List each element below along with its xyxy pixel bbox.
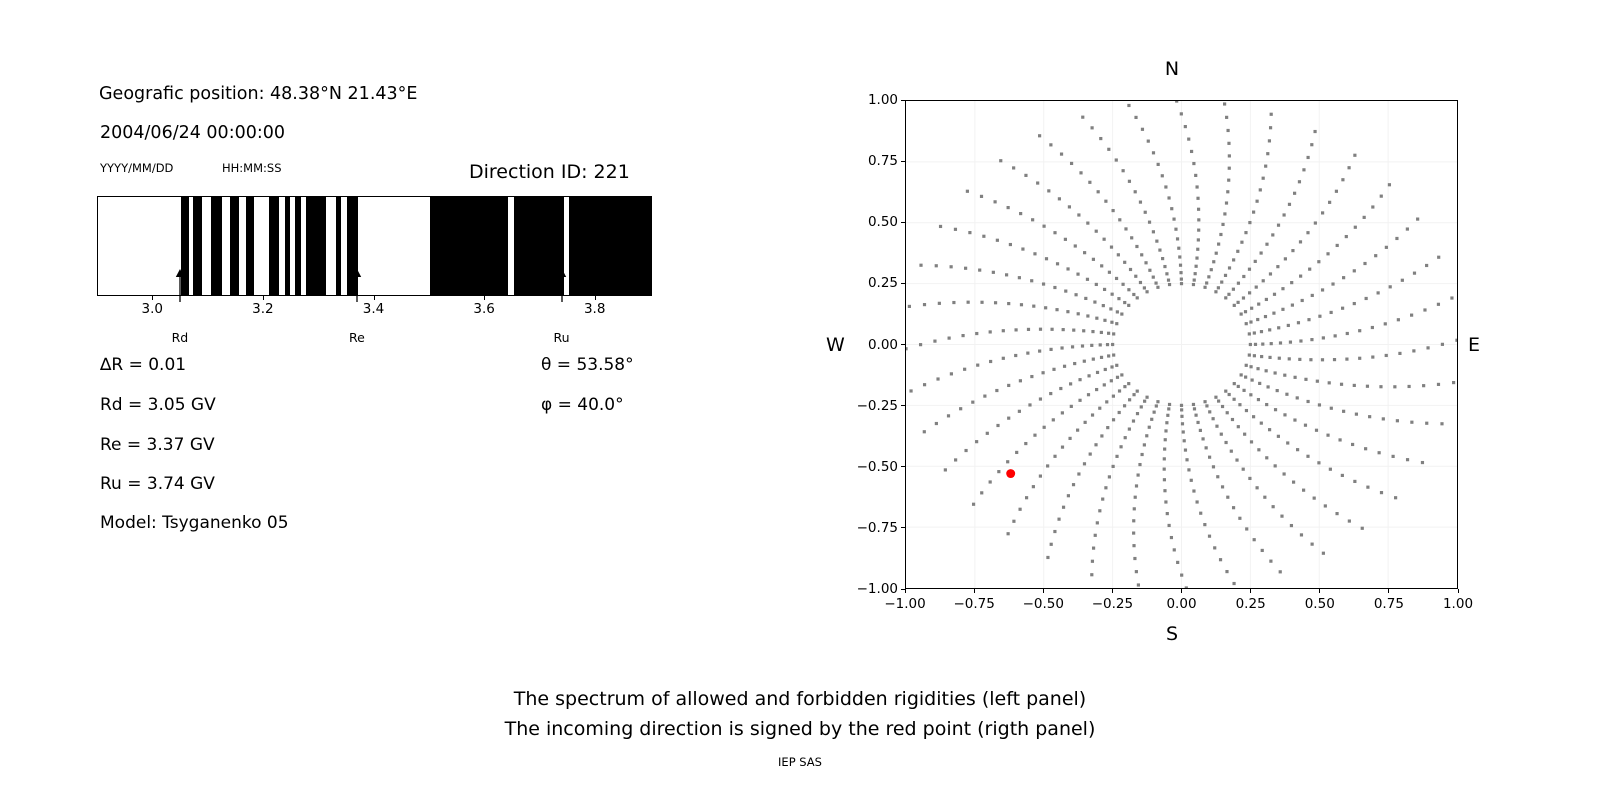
direction-point <box>944 468 947 471</box>
direction-point <box>1353 480 1356 483</box>
direction-point <box>1134 116 1137 119</box>
geographic-position-label: Geografic position: 48.38°N 21.43°E <box>99 84 417 104</box>
direction-point <box>1183 439 1186 442</box>
direction-point <box>1452 381 1455 384</box>
direction-point <box>1228 266 1231 269</box>
x-tick-dash <box>905 589 906 593</box>
direction-point <box>1061 411 1064 414</box>
direction-point <box>1026 352 1029 355</box>
selected-direction-point <box>1006 469 1015 478</box>
direction-point <box>1300 533 1303 536</box>
direction-point <box>1133 507 1136 510</box>
direction-point <box>1205 404 1208 407</box>
direction-point <box>1152 276 1155 279</box>
direction-point <box>1248 477 1251 480</box>
direction-point <box>1187 138 1190 141</box>
direction-point <box>1077 312 1080 315</box>
x-tick-label: 3.6 <box>473 301 494 317</box>
param-model: Model: Tsyganenko 05 <box>100 513 289 533</box>
direction-point <box>1136 412 1139 415</box>
direction-point <box>968 231 971 234</box>
direction-point <box>1155 240 1158 243</box>
direction-point <box>1111 293 1114 296</box>
direction-point <box>1104 368 1107 371</box>
direction-point <box>1155 404 1158 407</box>
direction-point <box>1226 496 1229 499</box>
direction-point <box>1232 506 1235 509</box>
direction-point <box>1353 302 1356 305</box>
direction-point <box>1106 343 1109 346</box>
direction-point <box>1180 404 1183 407</box>
direction-point <box>1158 248 1161 251</box>
direction-point <box>1223 212 1226 215</box>
direction-point <box>1224 274 1227 277</box>
direction-point <box>1192 283 1195 286</box>
direction-point <box>1175 101 1178 103</box>
direction-point <box>1094 534 1097 537</box>
direction-point <box>1261 549 1264 552</box>
direction-point <box>1109 307 1112 310</box>
direction-point <box>1128 427 1131 430</box>
direction-point <box>1084 297 1087 300</box>
direction-point <box>1340 383 1343 386</box>
direction-point <box>1139 201 1142 204</box>
direction-point <box>1274 371 1277 374</box>
x-tick-label: 0.25 <box>1236 596 1266 612</box>
direction-point <box>1228 167 1231 170</box>
direction-point <box>1101 498 1104 501</box>
direction-point <box>1366 486 1369 489</box>
x-tick-label: 0.50 <box>1305 596 1335 612</box>
direction-point <box>1324 504 1327 507</box>
direction-point <box>1033 252 1036 255</box>
direction-point <box>1276 389 1279 392</box>
direction-point <box>1268 356 1271 359</box>
direction-point <box>1134 275 1137 278</box>
direction-point <box>1262 177 1265 180</box>
direction-point <box>1067 494 1070 497</box>
direction-point <box>971 401 974 404</box>
direction-point <box>1437 303 1440 306</box>
direction-point <box>1310 338 1313 341</box>
direction-point <box>1265 369 1268 372</box>
direction-point <box>1112 209 1115 212</box>
direction-point <box>1068 437 1071 440</box>
direction-point <box>1140 453 1143 456</box>
x-tick-label: 3.4 <box>363 301 384 317</box>
direction-point <box>1087 393 1090 396</box>
direction-point <box>1093 300 1096 303</box>
direction-point <box>1240 241 1243 244</box>
direction-point <box>1066 310 1069 313</box>
x-tick-dash <box>1388 589 1389 593</box>
direction-point <box>1244 310 1247 313</box>
direction-point <box>1127 288 1130 291</box>
direction-point <box>1252 415 1255 418</box>
direction-point <box>1254 343 1257 346</box>
direction-point <box>1157 163 1160 166</box>
direction-point <box>1288 203 1291 206</box>
direction-point <box>1291 249 1294 252</box>
direction-point <box>1238 517 1241 520</box>
direction-point <box>1389 285 1392 288</box>
direction-point <box>1215 252 1218 255</box>
direction-point <box>1225 201 1228 204</box>
direction-point <box>1083 462 1086 465</box>
direction-point <box>1103 238 1106 241</box>
x-tick-dash <box>1043 589 1044 593</box>
direction-point <box>967 301 970 304</box>
x-tick-dash <box>1319 589 1320 593</box>
direction-point <box>1021 247 1024 250</box>
direction-point <box>1263 496 1266 499</box>
direction-point <box>1232 258 1235 261</box>
direction-point <box>954 458 957 461</box>
direction-point <box>1161 257 1164 260</box>
direction-point <box>1269 126 1272 129</box>
direction-point <box>1049 392 1052 395</box>
direction-point <box>1232 582 1235 585</box>
direction-point <box>1302 489 1305 492</box>
direction-point <box>1110 379 1113 382</box>
direction-point <box>980 301 983 304</box>
direction-map-panel: N S W E −1.00−0.75−0.50−0.250.000.250.50… <box>820 40 1520 660</box>
direction-point <box>1032 305 1035 308</box>
direction-point <box>1127 104 1130 107</box>
direction-point <box>1050 543 1053 546</box>
direction-point <box>1394 496 1397 499</box>
direction-point <box>966 190 969 193</box>
compass-south-label: S <box>1166 623 1178 645</box>
direction-point <box>1221 223 1224 226</box>
y-tick-dash <box>901 527 905 528</box>
direction-point <box>1224 390 1227 393</box>
direction-point <box>1100 331 1103 334</box>
direction-point <box>1118 389 1121 392</box>
direction-point <box>1064 289 1067 292</box>
x-tick-dash <box>974 589 975 593</box>
direction-point <box>1274 408 1277 411</box>
direction-point <box>1164 500 1167 503</box>
direction-point <box>1099 343 1102 346</box>
direction-point <box>1176 237 1179 240</box>
rigidity-marker-arrow <box>173 268 187 302</box>
direction-point <box>1317 461 1320 464</box>
direction-point <box>1351 443 1354 446</box>
direction-point <box>1306 455 1309 458</box>
direction-point <box>1078 399 1081 402</box>
direction-point <box>1120 312 1123 315</box>
direction-point <box>1020 303 1023 306</box>
direction-point <box>1317 260 1320 263</box>
direction-point <box>1248 353 1251 356</box>
direction-point <box>1050 328 1053 331</box>
direction-point <box>994 301 997 304</box>
x-tick-mark <box>374 296 375 300</box>
direction-point <box>983 395 986 398</box>
direction-point <box>1243 433 1246 436</box>
x-tick-label: −0.25 <box>1092 596 1133 612</box>
direction-point <box>1306 231 1309 234</box>
direction-point <box>1163 468 1166 471</box>
direction-point <box>1219 233 1222 236</box>
direction-point <box>1215 425 1218 428</box>
param-re: Re = 3.37 GV <box>100 435 215 455</box>
direction-point <box>1124 436 1127 439</box>
direction-point <box>1271 233 1274 236</box>
direction-point <box>1105 400 1108 403</box>
direction-point <box>1336 244 1339 247</box>
direction-point <box>1266 152 1269 155</box>
direction-point <box>1047 189 1050 192</box>
direction-point <box>1053 286 1056 289</box>
direction-point <box>1032 485 1035 488</box>
x-tick-dash <box>1458 589 1459 593</box>
direction-point <box>1112 395 1115 398</box>
direction-point <box>1197 208 1200 211</box>
direction-point <box>1182 430 1185 433</box>
direction-point <box>1248 221 1251 224</box>
direction-point <box>1240 373 1243 376</box>
direction-point <box>1156 400 1159 403</box>
direction-point <box>1096 521 1099 524</box>
direction-point <box>909 389 912 392</box>
direction-point <box>1326 252 1329 255</box>
direction-point <box>989 480 992 483</box>
direction-point <box>1143 443 1146 446</box>
forbidden-band <box>269 197 279 295</box>
direction-point <box>1358 329 1361 332</box>
y-tick-label: 0.75 <box>838 153 898 169</box>
direction-point <box>1276 265 1279 268</box>
direction-point <box>1293 418 1296 421</box>
direction-point <box>975 440 978 443</box>
y-tick: 0.50 <box>838 222 898 238</box>
direction-point <box>1277 326 1280 329</box>
direction-point <box>1144 261 1147 264</box>
direction-point <box>1225 570 1228 573</box>
direction-point <box>1194 174 1197 177</box>
direction-point <box>1086 222 1089 225</box>
direction-point <box>1208 410 1211 413</box>
direction-point <box>1226 129 1229 132</box>
direction-point <box>961 334 964 337</box>
direction-point <box>1265 243 1268 246</box>
direction-point <box>1098 407 1101 410</box>
direction-point <box>1129 268 1132 271</box>
direction-point <box>1039 328 1042 331</box>
direction-point <box>1196 197 1199 200</box>
direction-point <box>954 228 957 231</box>
direction-point <box>1342 410 1345 413</box>
direction-point <box>1107 332 1110 335</box>
y-tick-label: 0.25 <box>838 275 898 291</box>
direction-point <box>1216 475 1219 478</box>
direction-point <box>1266 385 1269 388</box>
direction-point <box>1258 382 1261 385</box>
direction-point <box>1145 434 1148 437</box>
direction-point <box>923 383 926 386</box>
direction-point <box>1168 524 1171 527</box>
direction-point <box>1364 447 1367 450</box>
direction-point <box>1128 180 1131 183</box>
direction-point <box>1441 343 1444 346</box>
direction-point <box>1277 224 1280 227</box>
direction-point <box>1334 334 1337 337</box>
direction-point <box>1193 407 1196 410</box>
direction-point <box>1355 413 1358 416</box>
direction-point <box>1440 422 1443 425</box>
direction-point <box>1292 481 1295 484</box>
direction-point <box>1253 354 1256 357</box>
direction-point <box>1298 180 1301 183</box>
direction-point <box>1286 441 1289 444</box>
direction-point <box>1163 265 1166 268</box>
direction-point <box>1197 229 1200 232</box>
direction-point <box>1030 279 1033 282</box>
y-tick-label: −0.50 <box>838 459 898 475</box>
direction-point <box>1039 397 1042 400</box>
direction-point <box>1024 442 1027 445</box>
direction-point <box>1221 405 1224 408</box>
direction-point <box>1180 282 1183 285</box>
direction-point <box>1392 455 1395 458</box>
direction-point <box>1401 279 1404 282</box>
direction-point <box>1321 358 1324 361</box>
rigidity-marker-label: Rd <box>172 330 189 345</box>
direction-point <box>1143 400 1146 403</box>
direction-point <box>1223 102 1226 105</box>
scatter-canvas <box>906 101 1457 588</box>
forbidden-band <box>230 197 239 295</box>
direction-point <box>1007 384 1010 387</box>
direction-point <box>1342 276 1345 279</box>
direction-point <box>1244 231 1247 234</box>
y-tick: 0.25 <box>838 283 898 299</box>
direction-point <box>1220 280 1223 283</box>
direction-point <box>1124 227 1127 230</box>
direction-point <box>963 368 966 371</box>
direction-point <box>1311 294 1314 297</box>
x-tick-label: −0.75 <box>953 596 994 612</box>
direction-point <box>1178 255 1181 258</box>
direction-point <box>1195 256 1198 259</box>
direction-point <box>1199 512 1202 515</box>
direction-point <box>1060 346 1063 349</box>
y-tick-label: −1.00 <box>838 581 898 597</box>
direction-point <box>1061 446 1064 449</box>
direction-point <box>1248 268 1251 271</box>
direction-point <box>1269 272 1272 275</box>
y-tick: −0.75 <box>838 528 898 544</box>
direction-point <box>1260 422 1263 425</box>
direction-point <box>1261 342 1264 345</box>
direction-point <box>1270 113 1273 116</box>
direction-point <box>1233 304 1236 307</box>
direction-point <box>1110 365 1113 368</box>
direction-point <box>1227 179 1230 182</box>
direction-point <box>1335 190 1338 193</box>
direction-point <box>1257 398 1260 401</box>
direction-point <box>1272 505 1275 508</box>
direction-point <box>1265 456 1268 459</box>
direction-point <box>1203 400 1206 403</box>
direction-point <box>1220 433 1223 436</box>
direction-point <box>1192 162 1195 165</box>
direction-point <box>1249 365 1252 368</box>
direction-point <box>1348 519 1351 522</box>
direction-point <box>1128 398 1131 401</box>
direction-point <box>1074 293 1077 296</box>
direction-point <box>1172 218 1175 221</box>
direction-point <box>1132 544 1135 547</box>
direction-point <box>1210 268 1213 271</box>
direction-point <box>1027 328 1030 331</box>
direction-point <box>1118 411 1121 414</box>
direction-point <box>1091 413 1094 416</box>
direction-point <box>1007 417 1010 420</box>
x-tick-mark <box>152 296 153 300</box>
direction-point <box>1174 228 1177 231</box>
direction-point <box>980 491 983 494</box>
direction-point <box>1205 446 1208 449</box>
direction-point <box>1123 261 1126 264</box>
direction-point <box>1112 465 1115 468</box>
direction-point <box>1194 414 1197 417</box>
direction-point <box>1049 143 1052 146</box>
direction-point <box>1025 496 1028 499</box>
direction-point <box>1314 221 1317 224</box>
direction-point <box>1083 251 1086 254</box>
direction-point <box>1384 322 1387 325</box>
direction-point <box>1225 116 1228 119</box>
direction-point <box>1115 158 1118 161</box>
direction-point <box>1137 583 1140 586</box>
direction-point <box>964 267 967 270</box>
x-tick-dash <box>1250 589 1251 593</box>
direction-point <box>1237 282 1240 285</box>
direction-point <box>1170 207 1173 210</box>
direction-point <box>1242 275 1245 278</box>
direction-point <box>1249 393 1252 396</box>
direction-point <box>1181 422 1184 425</box>
direction-point <box>1110 321 1113 324</box>
direction-point <box>1377 291 1380 294</box>
direction-point <box>1083 360 1086 363</box>
direction-point <box>980 195 983 198</box>
x-tick-dash <box>1181 589 1182 593</box>
direction-point <box>1117 253 1120 256</box>
direction-point <box>1345 235 1348 238</box>
direction-point <box>1296 448 1299 451</box>
direction-point <box>1127 304 1130 307</box>
direction-point <box>1092 358 1095 361</box>
forbidden-band <box>295 197 302 295</box>
direction-point <box>1134 190 1137 193</box>
direction-point <box>1168 403 1171 406</box>
direction-point <box>1132 531 1135 534</box>
direction-point <box>1281 287 1284 290</box>
direction-point <box>1187 468 1190 471</box>
direction-point <box>1353 269 1356 272</box>
direction-point <box>1179 271 1182 274</box>
direction-point <box>1212 465 1215 468</box>
direction-point <box>1057 518 1060 521</box>
direction-point <box>1279 570 1282 573</box>
direction-point <box>1076 429 1079 432</box>
direction-point <box>989 360 992 363</box>
direction-point <box>1288 357 1291 360</box>
